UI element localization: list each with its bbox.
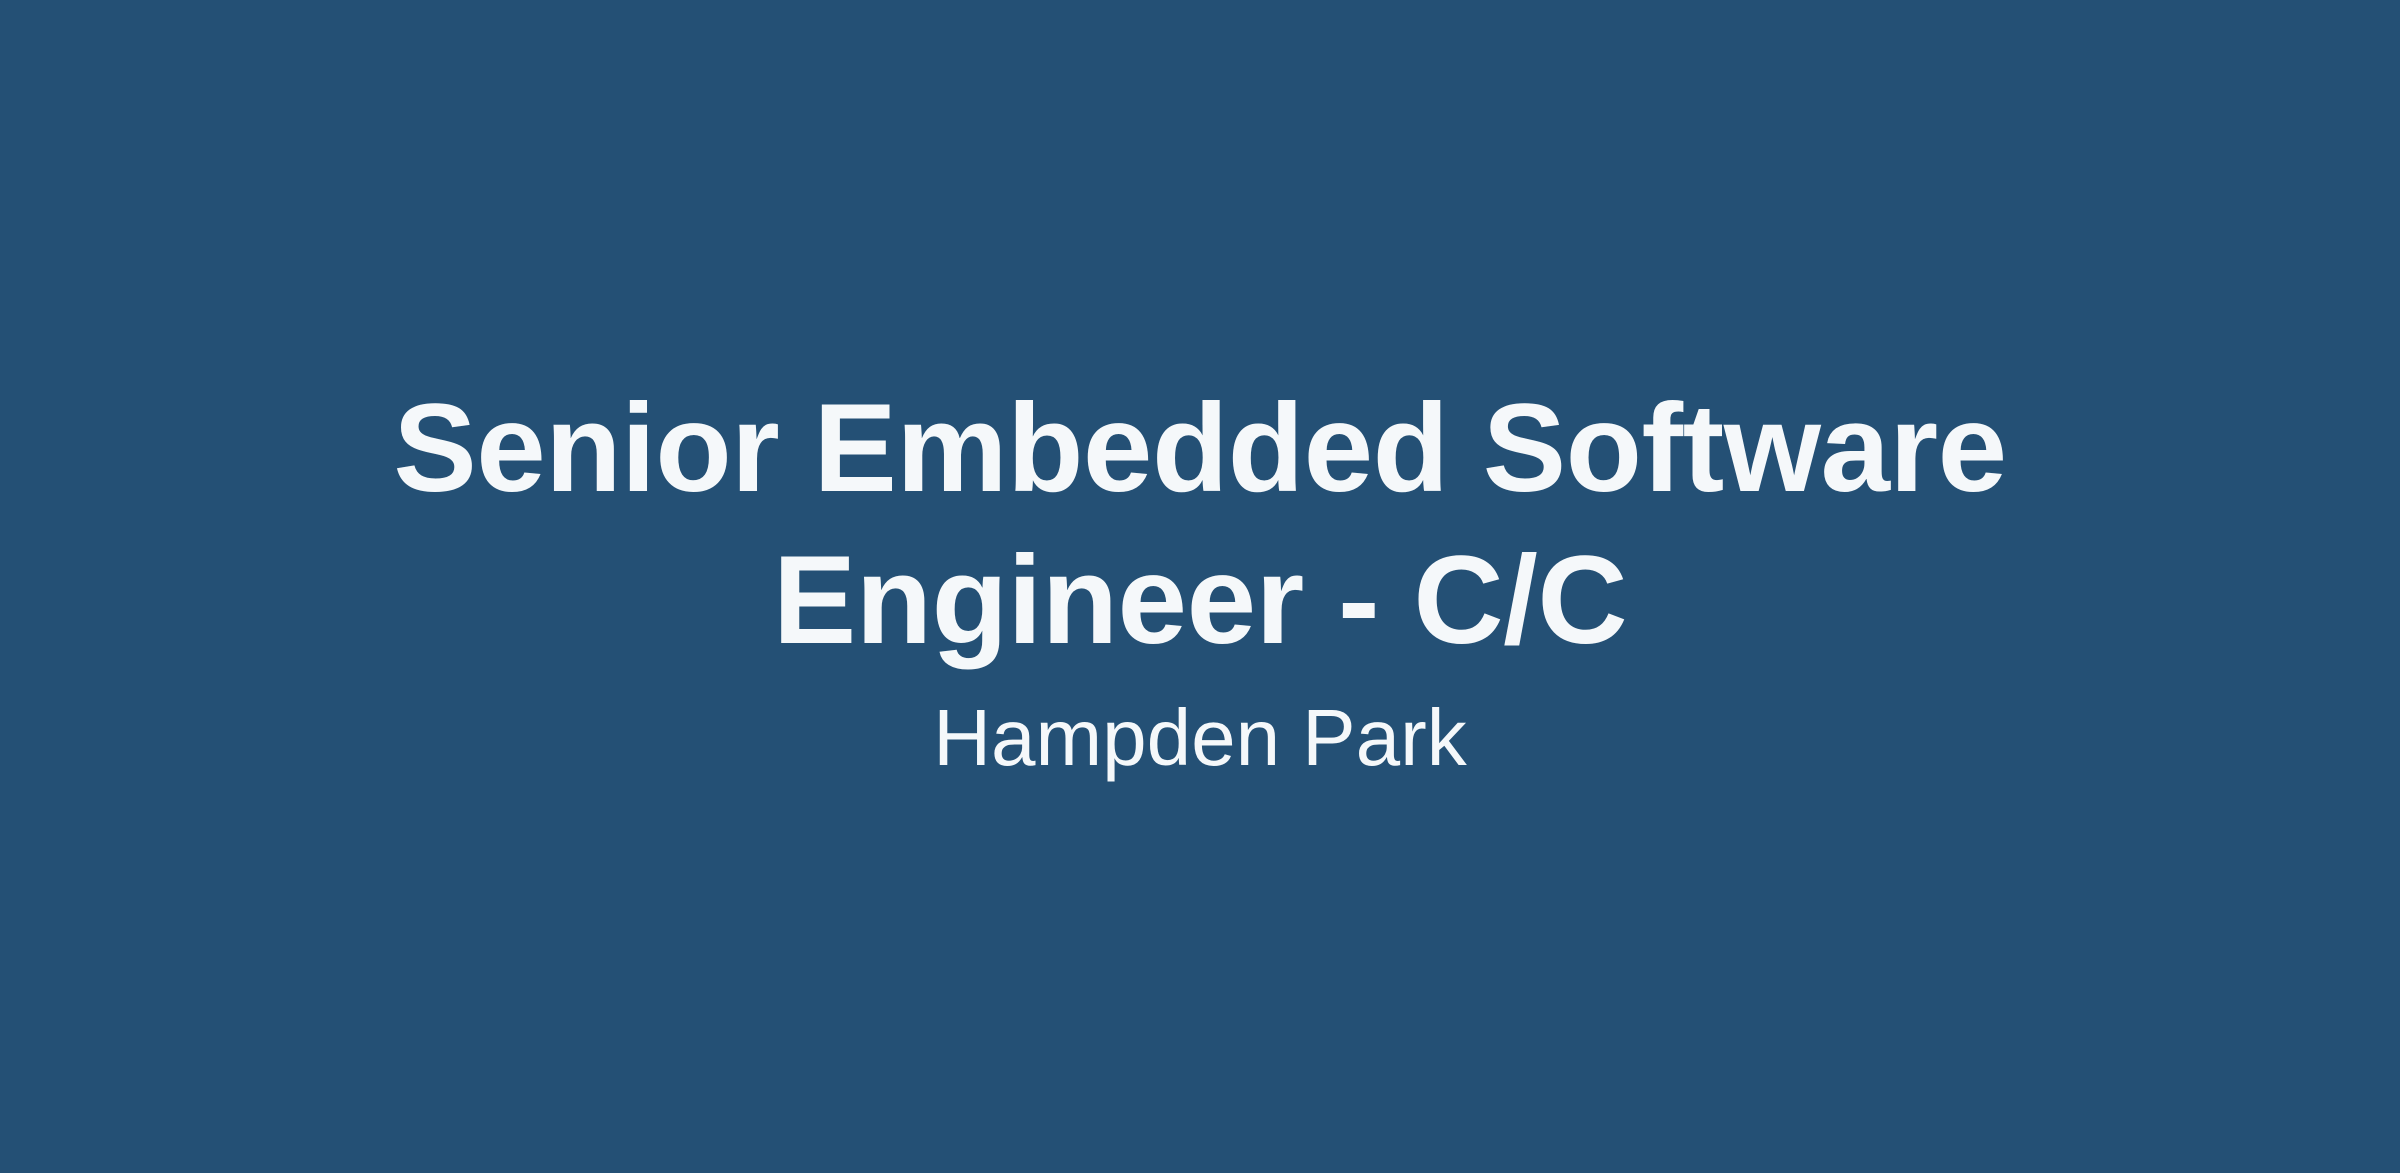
page-title: Senior Embedded Software Engineer - C/C [390, 373, 2010, 677]
banner-text-block: Senior Embedded Software Engineer - C/C … [390, 373, 2010, 785]
job-posting-banner: Senior Embedded Software Engineer - C/C … [0, 0, 2400, 1173]
page-subtitle-location: Hampden Park [390, 691, 2010, 785]
